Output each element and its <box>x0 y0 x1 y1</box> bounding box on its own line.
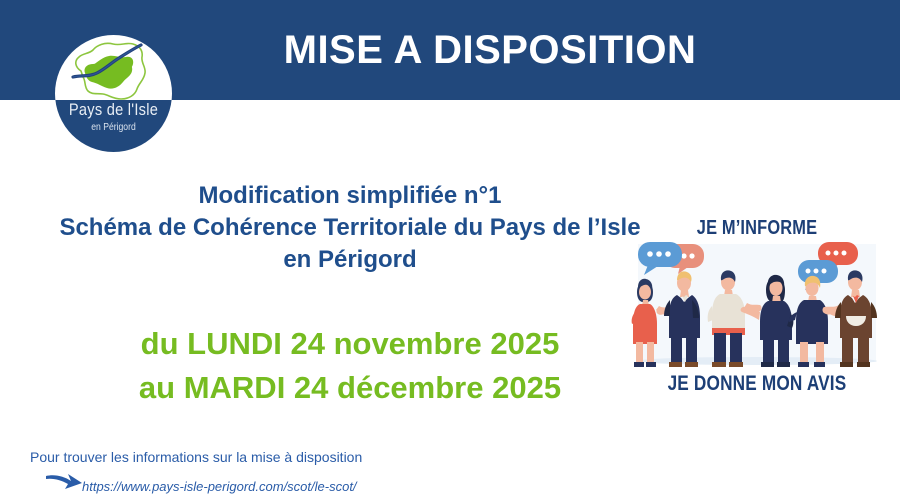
date-range: du LUNDI 24 novembre 2025 au MARDI 24 dé… <box>40 322 660 410</box>
date-start: du LUNDI 24 novembre 2025 <box>40 322 660 366</box>
page-title: MISE A DISPOSITION <box>180 0 800 100</box>
date-end: au MARDI 24 décembre 2025 <box>40 366 660 410</box>
illustration-bottom-text: JE DONNE MON AVIS <box>646 373 867 394</box>
poster-canvas: MISE A DISPOSITION Pays de l'Isle en Pér… <box>0 0 900 504</box>
illustration: JE M’INFORME <box>622 218 892 400</box>
curved-right-arrow-icon <box>44 470 84 494</box>
info-url[interactable]: https://www.pays-isle-perigord.com/scot/… <box>82 479 357 494</box>
logo[interactable]: Pays de l'Isle en Périgord <box>55 35 172 152</box>
heading-line-3: en Périgord <box>40 244 660 276</box>
footer-note: Pour trouver les informations sur la mis… <box>30 449 362 465</box>
illustration-top-text: JE M’INFORME <box>646 218 867 238</box>
main-heading: Modification simplifiée n°1 Schéma de Co… <box>40 180 660 276</box>
heading-line-2: Schéma de Cohérence Territoriale du Pays… <box>40 212 660 244</box>
heading-line-1: Modification simplifiée n°1 <box>40 180 660 212</box>
territory-map-icon <box>63 37 163 105</box>
logo-name: Pays de l'Isle <box>63 101 164 119</box>
logo-subtitle: en Périgord <box>63 123 164 133</box>
group-of-people-discussing-icon <box>622 240 892 375</box>
